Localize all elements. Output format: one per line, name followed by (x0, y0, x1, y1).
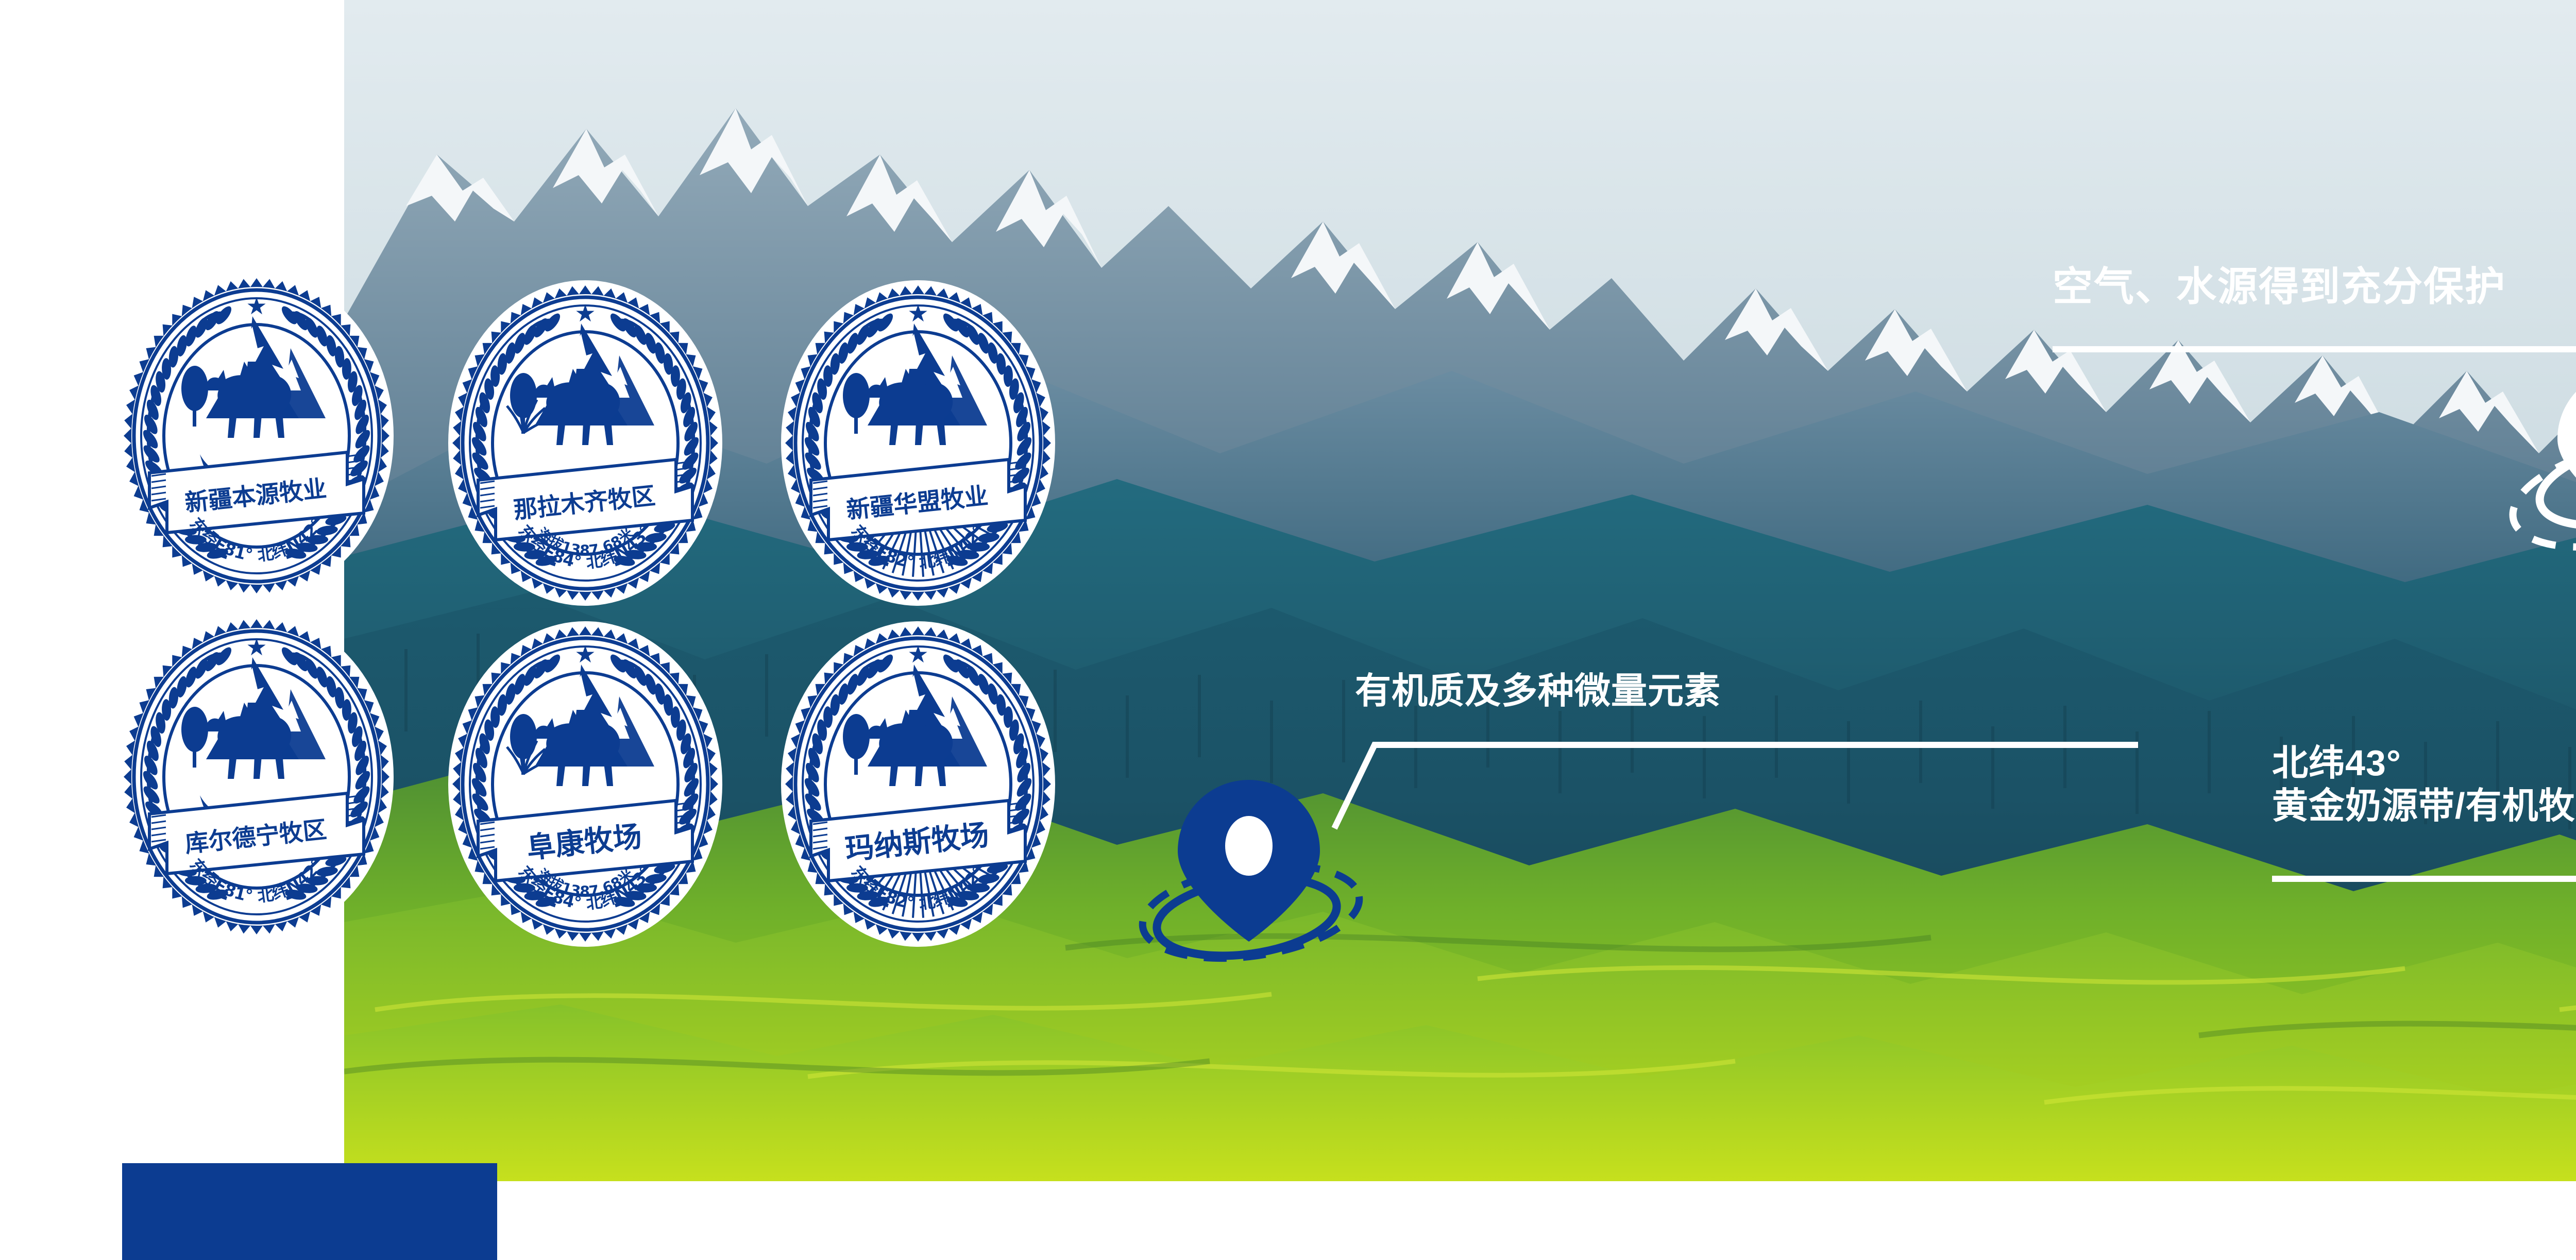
badge-4-graphic: ★ 库尔德宁牧区 (117, 612, 396, 942)
callout-organic-matter-line-1: 有机质及多种微量元素 (1355, 670, 2117, 712)
badge-3-graphic: ★ 新疆华盟牧业 (779, 278, 1057, 608)
banner-canvas: ★ 新疆本源牧业 (0, 0, 2576, 1260)
pasture-badge-6[interactable]: ★ 玛纳斯牧场 (779, 619, 1057, 949)
callout-latitude-43-leader (2272, 876, 2576, 1010)
svg-text:★: ★ (574, 640, 596, 668)
map-pin-with-orbit-icon-organic[interactable] (1121, 762, 1389, 979)
bottom-left-blue-block (122, 1163, 497, 1260)
badge-6-graphic: ★ 玛纳斯牧场 (779, 619, 1057, 949)
callout-air-water-line-1: 空气、水源得到充分保护 (2053, 263, 2576, 310)
pasture-badge-2[interactable]: ★ (446, 278, 724, 608)
callout-organic-matter: 有机质及多种微量元素 (1355, 670, 2117, 731)
pasture-badge-4[interactable]: ★ 库尔德宁牧区 (117, 612, 396, 942)
callout-air-water: 空气、水源得到充分保护 (2053, 263, 2576, 325)
pasture-badge-5[interactable]: ★ (446, 619, 724, 949)
svg-text:★: ★ (246, 633, 267, 661)
pasture-badge-3[interactable]: ★ 新疆华盟牧业 (779, 278, 1057, 608)
svg-text:★: ★ (246, 292, 267, 320)
svg-text:★: ★ (907, 299, 928, 327)
map-pin-with-orbit-icon-air-water[interactable] (2497, 350, 2576, 572)
callout-latitude-43-line-1: 北纬43° (2272, 742, 2576, 785)
badge-5-graphic: ★ (446, 619, 724, 949)
svg-text:★: ★ (907, 640, 928, 668)
callout-latitude-43-line-2: 黄金奶源带/有机牧场 (2272, 785, 2576, 827)
svg-text:★: ★ (574, 299, 596, 327)
badge-2-graphic: ★ (446, 278, 724, 608)
pasture-badge-1[interactable]: ★ 新疆本源牧业 (117, 271, 396, 601)
badge-1-graphic: ★ 新疆本源牧业 (117, 271, 396, 601)
callout-latitude-43: 北纬43° 黄金奶源带/有机牧场 (2272, 742, 2576, 855)
